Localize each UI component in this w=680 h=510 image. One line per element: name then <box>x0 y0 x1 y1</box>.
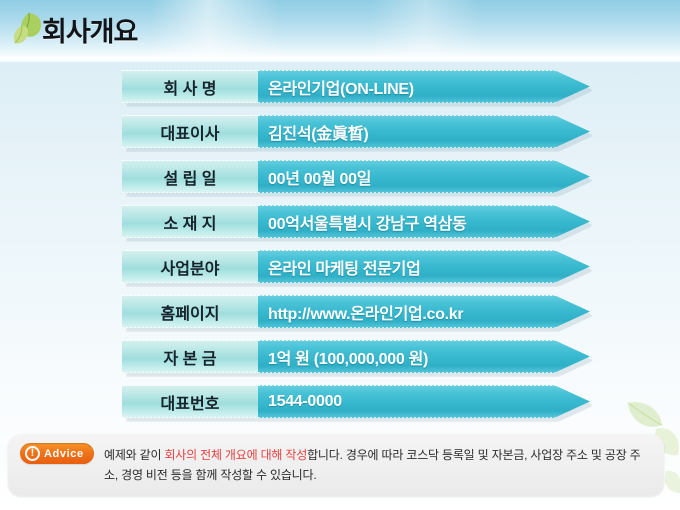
row-label-text: 회 사 명 <box>122 70 258 103</box>
row-label-text: 소 재 지 <box>122 205 258 238</box>
table-row[interactable]: 사업분야 온라인 마케팅 전문기업 <box>122 250 592 283</box>
advice-badge-label: Advice <box>44 448 84 460</box>
company-info-table: 회 사 명 온라인기업(ON-LINE) 대표이사 김진석(金眞晳) 설 립 일… <box>122 70 592 430</box>
table-row[interactable]: 소 재 지 00억서울특별시 강남구 역삼동 <box>122 205 592 238</box>
row-value-text: 온라인 마케팅 전문기업 <box>268 250 588 283</box>
table-row[interactable]: 자 본 금 1억 원 (100,000,000 원) <box>122 340 592 373</box>
row-label-text: 대표번호 <box>122 385 258 418</box>
exclamation-icon: ! <box>25 446 40 461</box>
row-label-text: 설 립 일 <box>122 160 258 193</box>
header-underline <box>0 58 680 62</box>
row-value-text: 온라인기업(ON-LINE) <box>268 70 588 103</box>
row-value-text: 00년 00월 00일 <box>268 160 588 193</box>
header-sheen-secondary <box>370 0 480 58</box>
row-label-text: 대표이사 <box>122 115 258 148</box>
advice-text-before: 예제와 같이 <box>104 448 164 462</box>
row-value-text: http://www.온라인기업.co.kr <box>268 295 588 328</box>
table-row[interactable]: 설 립 일 00년 00월 00일 <box>122 160 592 193</box>
header-sheen <box>150 0 280 58</box>
leaf-icon <box>10 10 46 48</box>
table-row[interactable]: 홈페이지 http://www.온라인기업.co.kr <box>122 295 592 328</box>
table-row[interactable]: 대표번호 1544-0000 <box>122 385 592 418</box>
advice-badge: ! Advice <box>20 443 94 464</box>
row-value-text: 00억서울특별시 강남구 역삼동 <box>268 205 588 238</box>
slide-canvas: 회사개요 회 사 명 온라인기업(ON-LINE) 대표이사 김진석(金眞晳) <box>0 0 680 510</box>
row-value-text: 김진석(金眞晳) <box>268 115 588 148</box>
table-row[interactable]: 대표이사 김진석(金眞晳) <box>122 115 592 148</box>
advice-text: 예제와 같이 회사의 전체 개요에 대해 작성합니다. 경우에 따라 코스닥 등… <box>104 445 652 485</box>
row-value-text: 1억 원 (100,000,000 원) <box>268 340 588 373</box>
row-label-text: 자 본 금 <box>122 340 258 373</box>
advice-box: ! Advice 예제와 같이 회사의 전체 개요에 대해 작성합니다. 경우에… <box>8 434 664 496</box>
page-title: 회사개요 <box>42 10 137 49</box>
row-label-text: 사업분야 <box>122 250 258 283</box>
advice-text-highlight: 회사의 전체 개요에 대해 작성 <box>164 448 307 462</box>
row-label-text: 홈페이지 <box>122 295 258 328</box>
table-row[interactable]: 회 사 명 온라인기업(ON-LINE) <box>122 70 592 103</box>
row-value-text: 1544-0000 <box>268 385 588 418</box>
